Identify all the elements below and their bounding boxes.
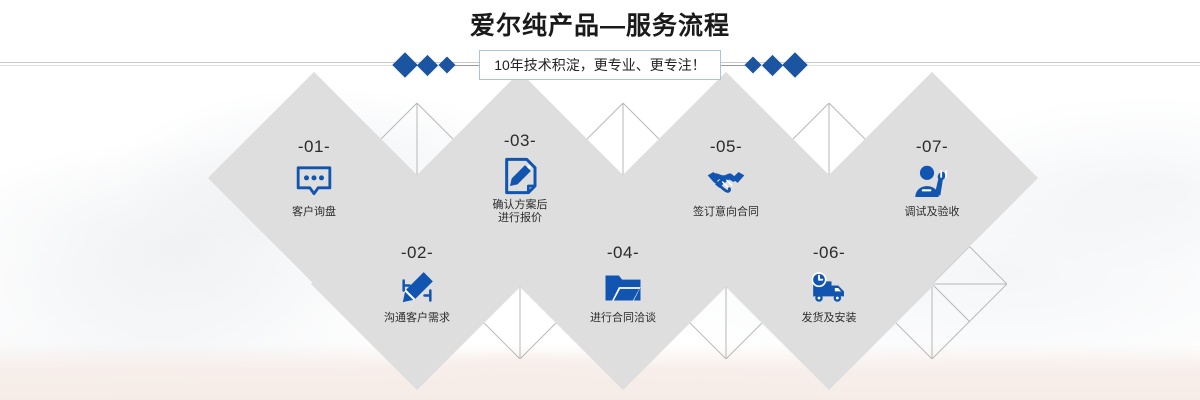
process-step-7[interactable]: -07- 调试及验收 [857, 103, 1007, 253]
left-connector-line [453, 65, 479, 66]
folder-open-icon [603, 268, 643, 308]
document-pen-icon [500, 156, 540, 196]
step-label: 确认方案后 进行报价 [493, 199, 548, 225]
diamond-medium-left-icon [417, 54, 438, 75]
step-label: 发货及安装 [802, 312, 857, 325]
step-number: -04- [607, 243, 639, 263]
diamond-small-left-icon [439, 57, 456, 74]
step-label: 沟通客户需求 [384, 312, 450, 325]
technician-wrench-icon [912, 162, 952, 202]
delivery-truck-icon [809, 268, 849, 308]
step-number: -02- [401, 243, 433, 263]
diamond-large-left-icon [392, 52, 417, 77]
step-label: 签订意向合同 [693, 206, 759, 219]
step-number: -03- [504, 131, 536, 151]
diamond-large-right-icon [782, 52, 807, 77]
step-number: -07- [916, 137, 948, 157]
left-diamond-group [396, 56, 453, 74]
subtitle-row: 10年技术积淀，更专业、更专注！ [0, 49, 1200, 81]
step-number: -05- [710, 137, 742, 157]
service-process-banner: 爱尔纯产品—服务流程 10年技术积淀，更专业、更专注！ [0, 0, 1200, 400]
banner-header: 爱尔纯产品—服务流程 10年技术积淀，更专业、更专注！ [0, 0, 1200, 90]
step-number: -01- [298, 137, 330, 157]
right-connector-line [721, 65, 747, 66]
diamond-small-right-icon [744, 57, 761, 74]
page-title: 爱尔纯产品—服务流程 [0, 10, 1200, 42]
page-subtitle: 10年技术积淀，更专业、更专注！ [479, 50, 721, 80]
pen-edit-icon [397, 268, 437, 308]
step-number: -06- [813, 243, 845, 263]
step-label: 客户询盘 [292, 206, 336, 219]
right-diamond-group [747, 56, 804, 74]
step-label: 进行合同洽谈 [590, 312, 656, 325]
step-content: -07- 调试及验收 [857, 103, 1007, 253]
handshake-icon [706, 162, 746, 202]
step-label: 调试及验收 [905, 206, 960, 219]
diamond-medium-right-icon [762, 54, 783, 75]
speech-bubble-icon [294, 162, 334, 202]
